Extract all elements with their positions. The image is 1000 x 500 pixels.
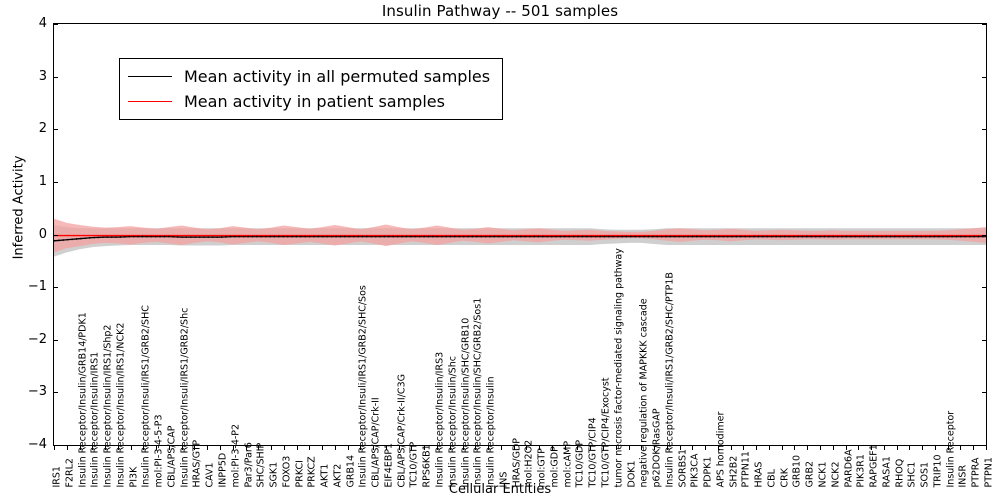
x-tick-label: HRAS/GDP: [512, 438, 522, 488]
x-tick-mark: [935, 446, 936, 450]
x-tick-mark: [565, 446, 566, 450]
x-tick-label: mol:GDP: [550, 446, 560, 487]
x-tick-mark: [820, 446, 821, 450]
x-tick-mark: [271, 446, 272, 450]
y-axis-label: Inferred Activity: [12, 0, 27, 423]
x-tick-label: Insulin Receptor/Insulin/SHC/GRB2/Sos1: [474, 297, 484, 487]
y-tick-label: −2: [7, 333, 47, 346]
x-tick-mark: [411, 446, 412, 450]
x-tick-mark: [169, 446, 170, 450]
y-tick-mark: [53, 24, 58, 25]
plot-area: Mean activity in all permuted samples Me…: [53, 23, 987, 446]
x-tick-mark: [131, 446, 132, 450]
x-tick-mark: [718, 446, 719, 450]
x-tick-label: mol:PI-3-4-P2: [231, 423, 241, 487]
x-tick-mark: [54, 446, 55, 450]
x-tick-label: Insulin Receptor/Insuli/IRS1/GRB2/Shc: [180, 307, 190, 487]
x-tick-label: Insulin Receptor/Insuli/IRS1/GRB2/SHC/PT…: [665, 272, 675, 487]
x-tick-mark: [67, 446, 68, 450]
y-tick-label: 1: [7, 175, 47, 188]
x-tick-mark: [246, 446, 247, 450]
y-tick-mark: [53, 340, 58, 341]
x-tick-label: Insulin Receptor/Insulin/Shc: [448, 356, 458, 487]
x-tick-mark: [858, 446, 859, 450]
x-tick-mark: [897, 446, 898, 450]
x-tick-mark: [233, 446, 234, 450]
x-tick-mark: [118, 446, 119, 450]
x-tick-mark: [92, 446, 93, 450]
x-tick-mark: [807, 446, 808, 450]
x-tick-mark: [373, 446, 374, 450]
x-tick-mark: [590, 446, 591, 450]
x-tick-label: CBL/APS/CAP: [167, 425, 177, 487]
x-tick-mark: [960, 446, 961, 450]
x-tick-mark: [514, 446, 515, 450]
x-tick-mark: [501, 446, 502, 450]
y-tick-mark: [53, 235, 58, 236]
x-tick-mark: [948, 446, 949, 450]
x-tick-mark: [450, 446, 451, 450]
y-tick-mark: [53, 287, 58, 288]
x-tick-label: Insulin Receptor/Insulin: [487, 376, 497, 487]
x-tick-mark: [680, 446, 681, 450]
x-tick-mark: [973, 446, 974, 450]
y-tick-mark: [982, 340, 987, 341]
x-tick-mark: [922, 446, 923, 450]
y-tick-mark: [53, 182, 58, 183]
x-tick-label: Insulin Receptor/Insulin/IRS3: [436, 351, 446, 487]
legend-line-patient-icon: [128, 101, 172, 102]
x-tick-mark: [769, 446, 770, 450]
x-tick-mark: [743, 446, 744, 450]
y-tick-label: −3: [7, 385, 47, 398]
x-tick-mark: [782, 446, 783, 450]
legend-label-patient: Mean activity in patient samples: [184, 92, 445, 111]
x-tick-mark: [80, 446, 81, 450]
x-tick-label: TC10/GTP/CIP4: [589, 417, 599, 487]
y-tick-mark: [982, 235, 987, 236]
x-tick-label: Insulin Receptor/Insuli/IRS1/GRB2/SHC/So…: [359, 285, 369, 487]
x-tick-mark: [846, 446, 847, 450]
x-tick-mark: [705, 446, 706, 450]
x-tick-mark: [577, 446, 578, 450]
y-tick-mark: [53, 129, 58, 130]
y-tick-mark: [982, 287, 987, 288]
y-tick-mark: [53, 77, 58, 78]
x-tick-mark: [909, 446, 910, 450]
x-tick-mark: [284, 446, 285, 450]
legend-line-permuted-icon: [128, 76, 172, 77]
x-tick-label: negative regulation of MAPKKK cascade: [640, 298, 650, 487]
x-tick-mark: [309, 446, 310, 450]
y-tick-mark: [982, 77, 987, 78]
x-tick-label: mol:PI-3-4-5-P3: [155, 414, 165, 487]
x-tick-mark: [641, 446, 642, 450]
x-tick-mark: [539, 446, 540, 450]
y-tick-label: −1: [7, 280, 47, 293]
figure: Insulin Pathway -- 501 samples Inferred …: [0, 0, 1000, 500]
legend-item-patient: Mean activity in patient samples: [128, 89, 490, 114]
x-tick-mark: [731, 446, 732, 450]
x-tick-mark: [105, 446, 106, 450]
x-tick-mark: [475, 446, 476, 450]
x-axis-tick-labels: IRS1F2RL2Insulin Receptor/Insulin/GRB14/…: [53, 447, 987, 487]
x-tick-mark: [220, 446, 221, 450]
x-tick-mark: [424, 446, 425, 450]
x-tick-label: Insulin Receptor/Insulin/IRS1/NCK2: [116, 322, 126, 487]
x-tick-label: Insulin Receptor/Insulin/IRS1: [91, 351, 101, 487]
x-tick-mark: [348, 446, 349, 450]
x-tick-mark: [143, 446, 144, 450]
x-tick-label: RPS6KB1: [423, 444, 433, 487]
x-tick-mark: [986, 446, 987, 450]
x-tick-label: Insulin Receptor/Insuli/IRS1/GRB2/SHC: [142, 305, 152, 487]
x-tick-mark: [207, 446, 208, 450]
x-tick-label: tumor necrosis factor-mediated signaling…: [614, 248, 624, 487]
x-tick-mark: [182, 446, 183, 450]
x-tick-mark: [437, 446, 438, 450]
x-tick-mark: [692, 446, 693, 450]
x-tick-label: Insulin Receptor/Insulin/IRS1/Shp2: [104, 324, 114, 487]
y-tick-label: 3: [7, 70, 47, 83]
y-tick-label: 4: [7, 17, 47, 30]
x-tick-mark: [654, 446, 655, 450]
x-tick-mark: [335, 446, 336, 450]
y-tick-label: −4: [7, 438, 47, 451]
x-tick-mark: [552, 446, 553, 450]
chart-title: Insulin Pathway -- 501 samples: [0, 2, 1000, 20]
y-tick-label: 0: [7, 228, 47, 241]
x-tick-mark: [322, 446, 323, 450]
x-tick-mark: [667, 446, 668, 450]
x-tick-label: CBL/APS/CAP/Crk-II/C3G: [397, 374, 407, 487]
x-tick-mark: [463, 446, 464, 450]
x-tick-label: Insulin Receptor/Insulin/SHC/GRB10: [461, 317, 471, 487]
x-tick-mark: [871, 446, 872, 450]
legend-item-permuted: Mean activity in all permuted samples: [128, 64, 490, 89]
x-tick-label: Insulin Receptor/Insulin/GRB14/PDK1: [78, 312, 88, 487]
x-axis-label: Cellular Entities: [0, 482, 1000, 497]
y-tick-mark: [982, 392, 987, 393]
x-tick-mark: [756, 446, 757, 450]
x-tick-mark: [526, 446, 527, 450]
x-tick-label: RAPGEF1: [870, 444, 880, 487]
x-tick-mark: [629, 446, 630, 450]
x-tick-mark: [488, 446, 489, 450]
x-tick-mark: [360, 446, 361, 450]
x-tick-mark: [833, 446, 834, 450]
x-tick-mark: [194, 446, 195, 450]
x-tick-mark: [603, 446, 604, 450]
y-tick-mark: [53, 392, 58, 393]
legend-label-permuted: Mean activity in all permuted samples: [184, 67, 490, 86]
y-tick-mark: [982, 129, 987, 130]
x-tick-mark: [258, 446, 259, 450]
y-tick-mark: [982, 182, 987, 183]
x-tick-mark: [616, 446, 617, 450]
x-tick-label: TC10/GTP/CIP4/Exocyst: [601, 377, 611, 487]
x-tick-mark: [297, 446, 298, 450]
x-tick-label: CBL/APS/CAP/Crk-II: [372, 397, 382, 487]
y-tick-mark: [982, 24, 987, 25]
legend: Mean activity in all permuted samples Me…: [119, 58, 503, 120]
x-tick-mark: [399, 446, 400, 450]
x-tick-mark: [794, 446, 795, 450]
x-tick-mark: [386, 446, 387, 450]
y-tick-label: 2: [7, 122, 47, 135]
x-tick-mark: [156, 446, 157, 450]
x-tick-mark: [884, 446, 885, 450]
